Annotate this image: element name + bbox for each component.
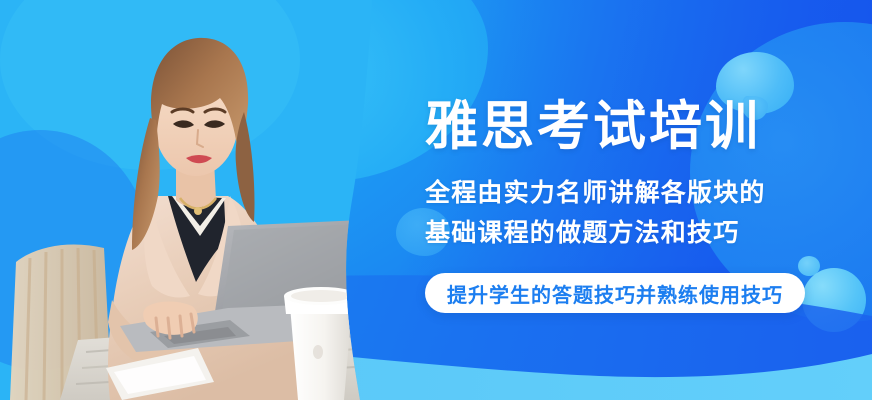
subtitle-line-1: 全程由实力名师讲解各版块的 xyxy=(425,176,766,210)
banner-content: 雅思考试培训 全程由实力名师讲解各版块的 基础课程的做题方法和技巧 提升学生的答… xyxy=(0,0,872,400)
highlight-pill[interactable]: 提升学生的答题技巧并熟练使用技巧 xyxy=(425,273,805,313)
subtitle-line-2: 基础课程的做题方法和技巧 xyxy=(425,216,739,250)
highlight-pill-label: 提升学生的答题技巧并熟练使用技巧 xyxy=(447,279,783,308)
ielts-training-banner: 雅思考试培训 全程由实力名师讲解各版块的 基础课程的做题方法和技巧 提升学生的答… xyxy=(0,0,872,400)
page-title: 雅思考试培训 xyxy=(425,96,761,158)
